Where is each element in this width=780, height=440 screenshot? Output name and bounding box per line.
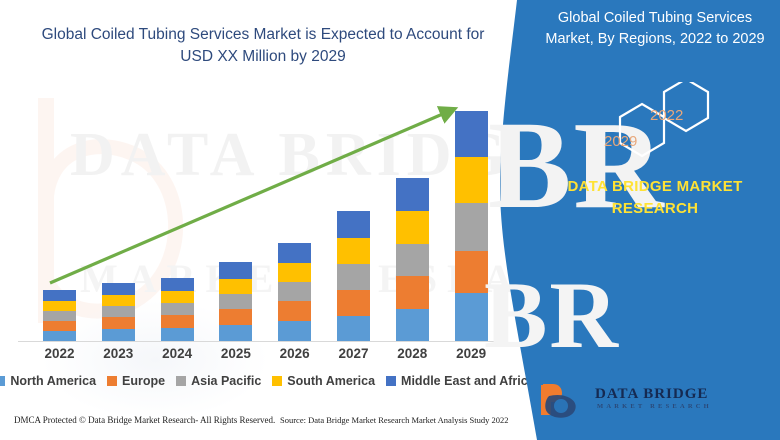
logo-title: DATA BRIDGE [595, 386, 708, 403]
trend-arrow [0, 0, 530, 360]
logo-mark-icon [535, 382, 591, 422]
hexagon-2029-label: 2029 [604, 133, 637, 150]
legend-item[interactable]: South America [272, 374, 375, 388]
x-axis-label-2023: 2023 [88, 346, 148, 361]
legend-label: Europe [122, 374, 165, 388]
legend-item[interactable]: North America [0, 374, 96, 388]
legend-item[interactable]: Asia Pacific [176, 374, 261, 388]
legend-swatch-icon [0, 376, 5, 386]
company-logo: DATA BRIDGE MARKET RESEARCH [535, 382, 745, 424]
hexagon-group: 2022 2029 [590, 82, 740, 187]
legend-label: Asia Pacific [191, 374, 261, 388]
watermark-br-bottom: BR [484, 260, 620, 370]
footer: DMCA Protected © Data Bridge Market Rese… [0, 415, 530, 435]
chart-pane: DATA BRIDGE MARKET RESEARCH Global Coile… [0, 0, 530, 440]
footer-copyright: DMCA Protected © Data Bridge Market Rese… [14, 415, 275, 425]
legend-swatch-icon [272, 376, 282, 386]
logo-subtitle: MARKET RESEARCH [597, 403, 712, 410]
x-axis-label-2024: 2024 [147, 346, 207, 361]
legend-label: South America [287, 374, 375, 388]
legend-label: North America [10, 374, 96, 388]
x-axis-label-2026: 2026 [265, 346, 325, 361]
legend-swatch-icon [176, 376, 186, 386]
x-axis-label-2022: 2022 [30, 346, 90, 361]
infographic-root: DATA BRIDGE MARKET RESEARCH Global Coile… [0, 0, 780, 440]
legend-swatch-icon [386, 376, 396, 386]
legend-item[interactable]: Europe [107, 374, 165, 388]
x-axis-labels: 20222023202420252026202720282029 [0, 346, 530, 368]
brand-pane-title: Global Coiled Tubing Services Market, By… [535, 8, 775, 50]
footer-source: Source: Data Bridge Market Research Mark… [280, 415, 509, 425]
hexagon-2022-label: 2022 [650, 107, 683, 124]
chart-legend: North AmericaEuropeAsia PacificSouth Ame… [0, 374, 530, 388]
brand-name: DATA BRIDGE MARKET RESEARCH [540, 176, 770, 220]
plot-area [0, 0, 530, 360]
x-axis-label-2027: 2027 [324, 346, 384, 361]
x-axis-label-2028: 2028 [382, 346, 442, 361]
legend-swatch-icon [107, 376, 117, 386]
x-axis-label-2025: 2025 [206, 346, 266, 361]
